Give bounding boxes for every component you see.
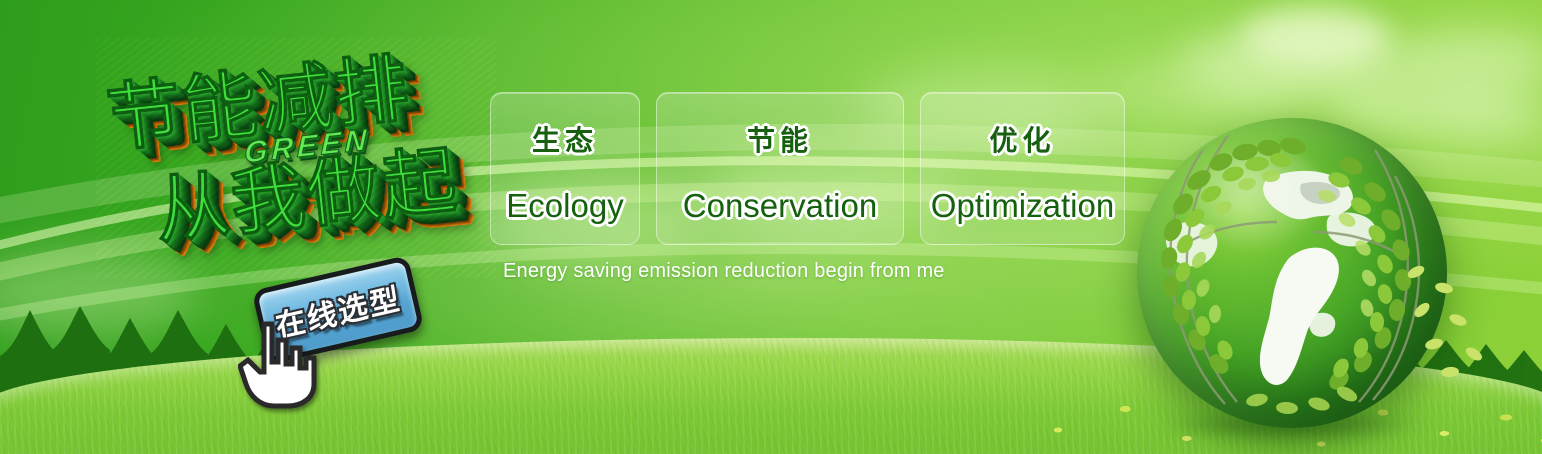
feature-card-list: 生态 Ecology 节能 Conservation 优化 Optimizati… <box>490 92 1125 245</box>
feature-card-optimization[interactable]: 优化 Optimization <box>920 92 1125 245</box>
banner-tagline: Energy saving emission reduction begin f… <box>503 260 945 283</box>
feature-card-en-title: Ecology <box>506 187 623 225</box>
feature-card-ecology[interactable]: 生态 Ecology <box>490 92 640 245</box>
falling-leaves-icon <box>1400 258 1520 388</box>
hand-pointer-icon <box>238 318 320 410</box>
feature-card-conservation[interactable]: 节能 Conservation <box>656 92 904 245</box>
feature-card-cn-title: 节能 <box>747 119 813 159</box>
feature-card-en-title: Conservation <box>683 187 877 225</box>
eco-banner: 节能减排 GREEN 从我做起 在线选型 生态 Ecology 节能 Conse… <box>0 0 1542 454</box>
feature-card-cn-title: 优化 <box>989 119 1055 159</box>
main-logo-artwork: 节能减排 GREEN 从我做起 <box>96 38 496 278</box>
feature-card-cn-title: 生态 <box>532 119 598 159</box>
feature-card-en-title: Optimization <box>931 187 1114 225</box>
